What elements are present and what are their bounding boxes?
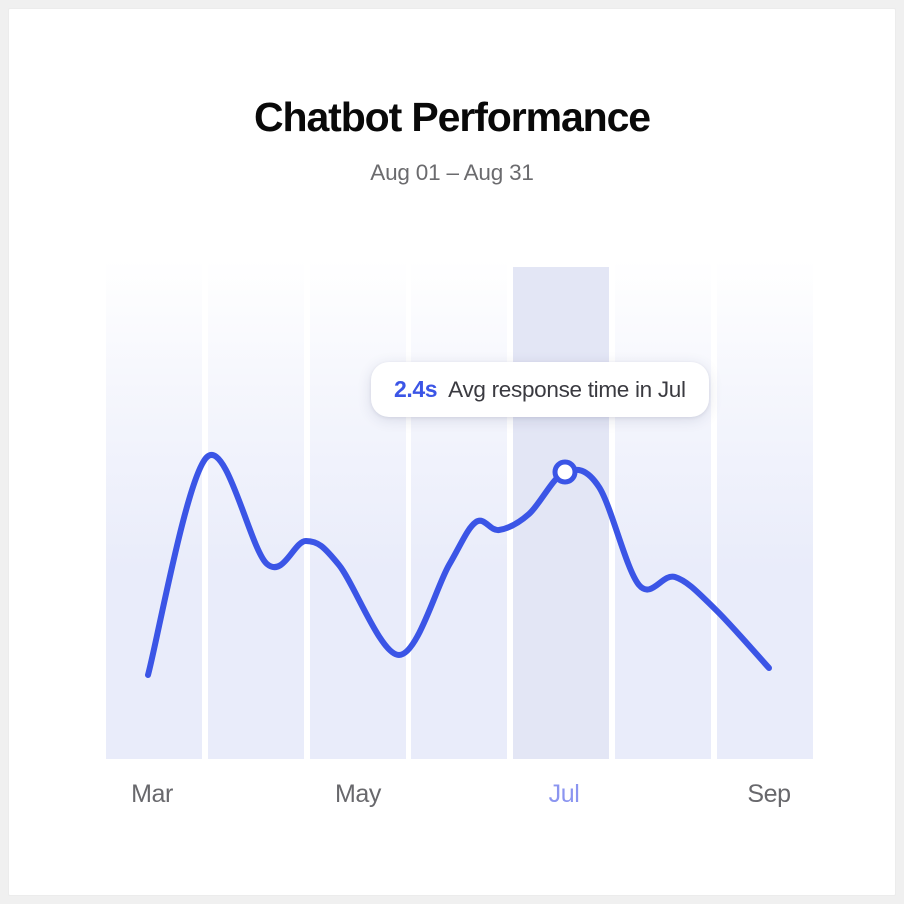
x-axis-tick-sep[interactable]: Sep bbox=[747, 779, 790, 809]
series-line-path bbox=[148, 455, 769, 675]
tooltip-value: 2.4s bbox=[394, 376, 437, 403]
highlight-data-point-marker[interactable] bbox=[555, 462, 575, 482]
chart-tooltip: 2.4s Avg response time in Jul bbox=[371, 362, 709, 417]
chart-header: Chatbot Performance Aug 01 – Aug 31 bbox=[9, 93, 895, 186]
x-axis-tick-may[interactable]: May bbox=[335, 779, 381, 809]
page-title: Chatbot Performance bbox=[9, 93, 895, 142]
response-time-line-chart bbox=[98, 259, 810, 759]
chart-plot-area[interactable] bbox=[98, 259, 810, 759]
tooltip-label: Avg response time in Jul bbox=[448, 377, 686, 403]
x-axis: MarMayJulSep bbox=[98, 779, 810, 823]
x-axis-tick-mar[interactable]: Mar bbox=[131, 779, 173, 809]
date-range-subtitle: Aug 01 – Aug 31 bbox=[9, 159, 895, 186]
x-axis-tick-jul[interactable]: Jul bbox=[549, 779, 580, 809]
chart-card: Chatbot Performance Aug 01 – Aug 31 2.4s… bbox=[8, 8, 896, 896]
